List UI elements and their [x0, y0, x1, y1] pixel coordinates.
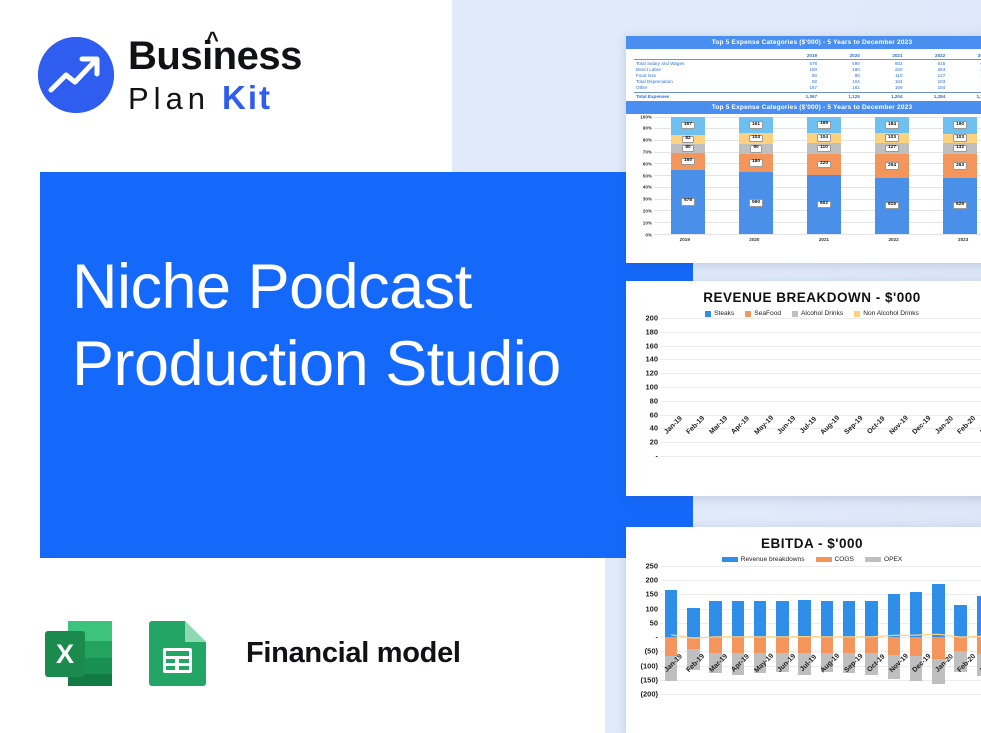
y-tick-label: 250	[645, 562, 658, 571]
data-label: 104	[749, 135, 763, 142]
bar-segment: 629	[943, 178, 977, 234]
data-label: 82	[682, 136, 693, 143]
logo-circumflex-icon: ^	[206, 29, 218, 51]
bar-column	[723, 318, 744, 456]
legend-item: Alcohol Drinks	[792, 310, 843, 317]
data-label: 190	[953, 121, 967, 128]
x-tick-label: 2021	[807, 237, 841, 242]
legend-label: COGS	[835, 556, 854, 563]
legend-label: Revenue breakdowns	[741, 556, 805, 563]
data-label: 615	[885, 202, 899, 209]
bar-segment: 615	[875, 178, 909, 234]
bar-column	[764, 318, 785, 456]
data-label: 254	[885, 162, 899, 169]
bar-segment: 167	[671, 117, 705, 135]
bars-container	[660, 318, 981, 456]
table-cell: 184	[905, 85, 948, 93]
y-tick-label: 80	[650, 396, 658, 405]
bar-segment: 132	[943, 143, 977, 155]
data-label: 103	[953, 134, 967, 141]
expense-table: 20192020202120222023 Total Salary and Wa…	[634, 53, 981, 100]
bar-column	[848, 318, 869, 456]
y-tick-label: 50%	[643, 173, 652, 178]
bar-segment: 590	[739, 172, 773, 233]
legend-label: Alcohol Drinks	[801, 310, 843, 317]
table-row: Total Expenses1,0671,1251,2041,2841,316	[634, 92, 981, 99]
microsoft-excel-icon: X	[40, 615, 117, 692]
bar-column	[952, 318, 973, 456]
y-tick-label: 80%	[643, 138, 652, 143]
data-label: 167	[681, 122, 695, 129]
y-tick-label: 150	[645, 590, 658, 599]
logo-word-kit: Kit	[222, 81, 272, 114]
table-cell: 578	[776, 60, 819, 67]
y-tick-label: 20%	[643, 209, 652, 214]
bar-segment: 220	[807, 154, 841, 175]
legend-item: COGS	[816, 556, 854, 563]
x-axis-labels: 20192020202120222023	[650, 237, 981, 242]
y-tick-label: 90%	[643, 126, 652, 131]
bar-segment: 184	[875, 117, 909, 134]
table-cell: 615	[905, 60, 948, 67]
bar-column	[827, 318, 848, 456]
data-label: 169	[817, 121, 831, 128]
table-row: Other167161169184190	[634, 85, 981, 93]
data-label: 127	[885, 145, 899, 152]
y-tick-label: (100)	[640, 661, 658, 670]
ebitda-chart-legend: Revenue breakdownsCOGSOPEX	[626, 556, 981, 563]
data-label: 110	[817, 145, 831, 152]
column-header: 2022	[905, 53, 948, 60]
table-cell: 169	[862, 85, 905, 93]
legend-item: SeaFood	[745, 310, 781, 317]
legend-swatch	[816, 557, 832, 562]
data-label: 80	[682, 145, 693, 152]
expense-chart-banner: Top 5 Expense Categories ($'000) - 5 Yea…	[626, 101, 981, 114]
data-label: 184	[885, 121, 899, 128]
y-tick-label: 10%	[643, 220, 652, 225]
y-tick-label: 0%	[645, 232, 652, 237]
bar-segment: 127	[875, 143, 909, 155]
expense-stacked-percent-chart: 100%90%80%70%60%50%40%30%20%10%0% 167828…	[630, 117, 981, 235]
y-tick-label: 100%	[640, 114, 652, 119]
table-cell: 629	[947, 60, 981, 67]
table-row: Total Salary and Wages578590602615629	[634, 60, 981, 67]
stacked-bar: 1678280160578	[671, 117, 705, 234]
bar-segment: 263	[943, 154, 977, 177]
bar-segment: 254	[875, 154, 909, 177]
bar-column	[660, 318, 681, 456]
y-tick-label: 40%	[643, 185, 652, 190]
legend-item: Revenue breakdowns	[722, 556, 805, 563]
logo-word-business: Business ^	[128, 36, 302, 76]
bar-column	[744, 318, 765, 456]
expense-categories-screenshot-card[interactable]: Top 5 Expense Categories ($'000) - 5 Yea…	[626, 36, 981, 263]
legend-item: Steaks	[705, 310, 734, 317]
y-tick-label: 60%	[643, 161, 652, 166]
background-white-notch	[452, 557, 605, 733]
format-badges: X Financial model	[40, 615, 461, 692]
x-tick-label: 2019	[668, 237, 702, 242]
data-label: 160	[681, 158, 695, 165]
y-tick-label: 180	[645, 327, 658, 336]
page-title: Niche Podcast Production Studio	[72, 249, 632, 403]
y-tick-label: -	[656, 633, 659, 642]
stacked-bar: 184103127254615	[875, 117, 909, 234]
legend-swatch	[792, 311, 798, 317]
bar-segment: 82	[671, 135, 705, 144]
y-tick-label: -	[656, 452, 659, 461]
data-label: 103	[885, 134, 899, 141]
expense-table-banner: Top 5 Expense Categories ($'000) - 5 Yea…	[626, 36, 981, 49]
legend-label: OPEX	[884, 556, 902, 563]
bar-column	[931, 318, 952, 456]
column-header: 2020	[819, 53, 862, 60]
legend-swatch	[854, 311, 860, 317]
bar-column	[973, 318, 981, 456]
y-tick-label: 70%	[643, 150, 652, 155]
table-cell: 167	[776, 85, 819, 93]
bar-segment: 90	[739, 144, 773, 153]
table-cell: 602	[862, 60, 905, 67]
stacked-bar: 169104110220602	[807, 117, 841, 234]
data-label: 578	[681, 198, 695, 205]
bar-segment: 578	[671, 170, 705, 233]
row-label: Total Expenses	[634, 92, 776, 99]
table-cell: 1,204	[862, 92, 905, 99]
bar-segment: 180	[739, 154, 773, 173]
y-tick-label: 30%	[643, 197, 652, 202]
x-axis-labels: Jan-19Feb-19Mar-19Apr-19May-19Jun-19Jul-…	[660, 423, 981, 430]
column-header: 2021	[862, 53, 905, 60]
data-label: 629	[953, 202, 967, 209]
legend-swatch	[865, 557, 881, 562]
y-tick-label: 40	[650, 424, 658, 433]
row-label: Other	[634, 85, 776, 93]
stacked-bar: 16110490180590	[739, 117, 773, 234]
row-label: Total Salary and Wages	[634, 60, 776, 67]
legend-swatch	[722, 557, 738, 562]
legend-item: Non Alcohol Drinks	[854, 310, 919, 317]
ebitda-screenshot-card[interactable]: EBITDA - $'000 Revenue breakdownsCOGSOPE…	[626, 527, 981, 733]
data-label: 132	[953, 145, 967, 152]
table-cell: 1,316	[947, 92, 981, 99]
data-label: 263	[953, 162, 967, 169]
y-tick-label: 20	[650, 438, 658, 447]
column-header: 2023	[947, 53, 981, 60]
bar-column	[911, 318, 932, 456]
y-axis-labels: 100%90%80%70%60%50%40%30%20%10%0%	[630, 117, 654, 235]
bar-segment: 161	[739, 117, 773, 134]
y-axis-labels: 25020015010050-(50)(100)(150)(200)	[626, 566, 660, 694]
column-header	[634, 53, 776, 60]
brand-logo[interactable]: Business ^ Plan Kit	[38, 36, 302, 114]
y-tick-label: 120	[645, 369, 658, 378]
data-label: 590	[749, 199, 763, 206]
x-tick-label: 2022	[877, 237, 911, 242]
y-tick-label: (200)	[640, 690, 658, 699]
table-cell: 190	[947, 85, 981, 93]
bar-segment: 190	[943, 117, 977, 134]
bar-column	[869, 318, 890, 456]
bar-segment: 602	[807, 175, 841, 233]
ebitda-margin-trendline	[660, 566, 981, 694]
bar-column	[785, 318, 806, 456]
table-cell: 1,067	[776, 92, 819, 99]
data-label: 220	[817, 161, 831, 168]
y-tick-label: (150)	[640, 675, 658, 684]
trending-arrow-icon	[38, 37, 114, 113]
y-tick-label: 60	[650, 410, 658, 419]
x-axis-labels: Jan-19Feb-19Mar-19Apr-19May-19Jun-19Jul-…	[660, 661, 981, 668]
data-label: 602	[817, 201, 831, 208]
legend-item: OPEX	[865, 556, 902, 563]
x-tick-label: 2020	[737, 237, 771, 242]
revenue-chart-legend: SteaksSeaFoodAlcohol DrinksNon Alcohol D…	[626, 310, 981, 317]
x-tick-label: 2023	[946, 237, 980, 242]
y-axis-labels: 20018016014012010080604020-	[626, 318, 660, 456]
data-label: 161	[749, 121, 763, 128]
y-tick-label: 100	[645, 383, 658, 392]
table-cell: 590	[819, 60, 862, 67]
financial-model-label: Financial model	[246, 637, 461, 670]
y-tick-label: 140	[645, 355, 658, 364]
logo-word-plan: Plan	[128, 83, 210, 114]
table-cell: 1,284	[905, 92, 948, 99]
legend-label: SeaFood	[754, 310, 781, 317]
data-label: 180	[749, 159, 763, 166]
google-sheets-icon	[139, 615, 216, 692]
bar-segment: 103	[943, 134, 977, 143]
legend-label: Non Alcohol Drinks	[863, 310, 919, 317]
y-tick-label: 200	[645, 576, 658, 585]
table-cell: 1,125	[819, 92, 862, 99]
revenue-chart-title: REVENUE BREAKDOWN - $'000	[626, 290, 981, 305]
svg-text:X: X	[56, 639, 74, 669]
data-label: 104	[817, 134, 831, 141]
bar-segment: 110	[807, 143, 841, 154]
legend-label: Steaks	[714, 310, 734, 317]
bar-segment: 80	[671, 144, 705, 153]
revenue-breakdown-screenshot-card[interactable]: REVENUE BREAKDOWN - $'000 SteaksSeaFoodA…	[626, 281, 981, 496]
table-cell: 161	[819, 85, 862, 93]
y-tick-label: 160	[645, 341, 658, 350]
bar-segment: 103	[875, 133, 909, 142]
ebitda-chart-title: EBITDA - $'000	[626, 536, 981, 551]
legend-swatch	[745, 311, 751, 317]
y-tick-label: 200	[645, 314, 658, 323]
stacked-bar: 190103132263629	[943, 117, 977, 234]
bar-segment: 169	[807, 117, 841, 133]
legend-swatch	[705, 311, 711, 317]
bar-segment: 104	[739, 133, 773, 144]
table-header-row: 20192020202120222023	[634, 53, 981, 60]
bar-segment: 160	[671, 153, 705, 171]
bar-column	[681, 318, 702, 456]
y-tick-label: (50)	[645, 647, 658, 656]
data-label: 90	[750, 145, 761, 152]
column-header: 2019	[776, 53, 819, 60]
y-tick-label: 100	[645, 604, 658, 613]
y-tick-label: 50	[650, 618, 658, 627]
bar-segment: 104	[807, 133, 841, 143]
